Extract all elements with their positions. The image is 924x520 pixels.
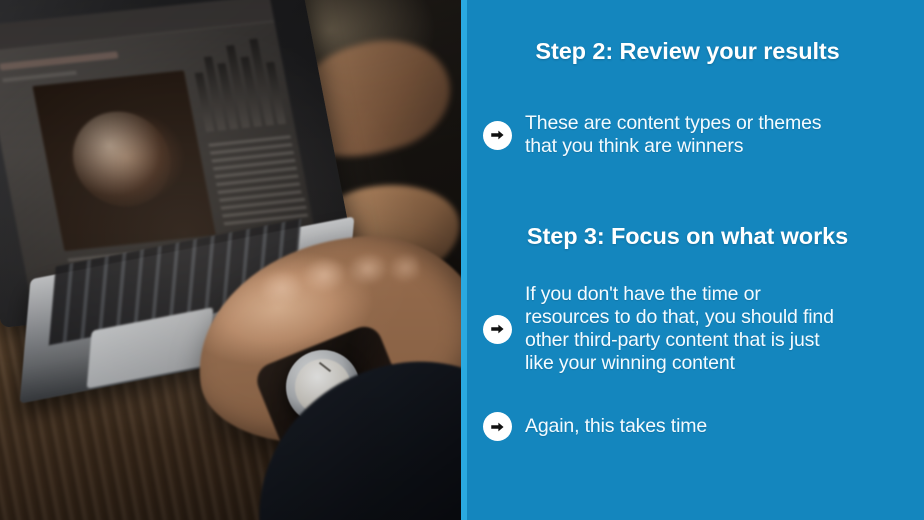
slide-root: Step 2: Review your results These are co…: [0, 0, 924, 520]
bullet-text-2: If you don't have the time or resources …: [525, 283, 834, 375]
article-subline: [2, 71, 77, 83]
laptop-photo: [0, 0, 461, 520]
heading-step-3: Step 3: Focus on what works: [473, 223, 902, 250]
bullet-item-3: Again, this takes time: [483, 412, 902, 441]
bar-chart: [188, 29, 286, 132]
arrow-right-circle-icon: [483, 121, 512, 150]
content-panel: Step 2: Review your results These are co…: [461, 0, 924, 520]
article-text-right: [208, 135, 302, 206]
bullet-item-1: These are content types or themes that y…: [483, 112, 902, 158]
arrow-right-circle-icon: [483, 315, 512, 344]
arrow-right-circle-icon: [483, 412, 512, 441]
coffee-photo: [32, 70, 216, 251]
bullet-text-1: These are content types or themes that y…: [525, 112, 821, 158]
bullet-text-3: Again, this takes time: [525, 415, 707, 438]
accent-stripe: [461, 0, 467, 520]
heading-step-2: Step 2: Review your results: [473, 38, 902, 65]
article-headline: [0, 51, 118, 70]
bullet-item-2: If you don't have the time or resources …: [483, 283, 912, 375]
